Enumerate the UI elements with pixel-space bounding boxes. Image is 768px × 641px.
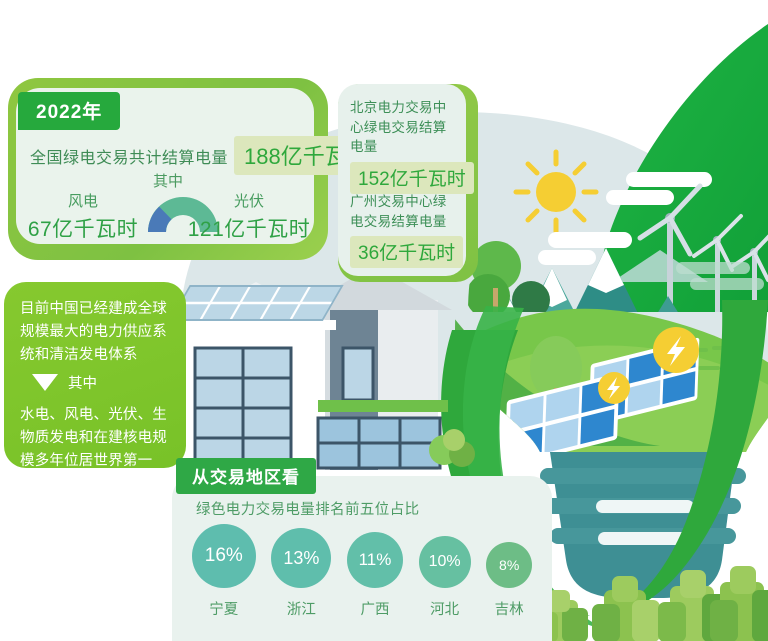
exchange-item-guangzhou: 广州交易中心绿电交易结算电量 36亿千瓦时	[350, 192, 460, 268]
exchange-value: 36亿千瓦时	[350, 236, 463, 268]
exchange-title: 北京电力交易中心绿电交易结算电量	[350, 98, 460, 157]
region-percent-bubble: 11%	[347, 532, 403, 588]
region-percent-bubble: 13%	[271, 528, 331, 588]
achievement-middle-label: 其中	[68, 372, 97, 393]
region-item: 10%河北	[419, 524, 471, 619]
card-national-achievement: 目前中国已经建成全球规模最大的电力供应系统和清洁发电体系 其中 水电、风电、光伏…	[4, 282, 186, 468]
wind-label: 风电	[24, 190, 142, 211]
wind-value: 67亿千瓦时	[24, 213, 142, 243]
exchange-value: 152亿千瓦时	[350, 162, 474, 194]
achievement-paragraph-2: 水电、风电、光伏、生物质发电和在建核电规模多年位居世界第一	[20, 404, 176, 473]
region-name: 河北	[430, 598, 459, 619]
exchange-item-beijing: 北京电力交易中心绿电交易结算电量 152亿千瓦时	[350, 98, 460, 194]
regions-badge: 从交易地区看	[176, 458, 316, 494]
solar-label: 光伏	[184, 190, 314, 211]
house-icon	[170, 266, 452, 470]
solar-value: 121亿千瓦时	[184, 213, 314, 243]
infographic-root: 2022年 全国绿电交易共计结算电量 188亿千瓦时 其中 风电 67亿千瓦时 …	[0, 0, 768, 641]
sun-icon	[516, 152, 596, 232]
region-name: 宁夏	[209, 598, 238, 619]
achievement-divider-row: 其中	[32, 372, 97, 393]
card-exchange-centers: 北京电力交易中心绿电交易结算电量 152亿千瓦时 广州交易中心绿电交易结算电量 …	[338, 84, 478, 282]
region-item: 11%广西	[347, 524, 403, 619]
achievement-paragraph-1: 目前中国已经建成全球规模最大的电力供应系统和清洁发电体系	[20, 298, 174, 367]
breakdown-label: 其中	[8, 170, 328, 191]
year-badge: 2022年	[18, 92, 120, 130]
region-percent-bubble: 16%	[192, 524, 256, 588]
region-name: 浙江	[287, 598, 316, 619]
region-percent-bubble: 10%	[419, 536, 471, 588]
exchange-title: 广州交易中心绿电交易结算电量	[350, 192, 460, 231]
card-regions: 绿色电力交易电量排名前五位占比 16%宁夏13%浙江11%广西10%河北8%吉林	[172, 476, 552, 641]
triangle-down-icon	[32, 374, 58, 391]
ground-shape	[0, 520, 186, 641]
region-name: 吉林	[495, 598, 524, 619]
region-name: 广西	[360, 598, 389, 619]
region-item: 8%吉林	[486, 524, 532, 619]
national-total-label: 全国绿电交易共计结算电量	[30, 144, 228, 168]
regions-title: 绿色电力交易电量排名前五位占比	[196, 498, 420, 519]
regions-bubble-list: 16%宁夏13%浙江11%广西10%河北8%吉林	[184, 524, 540, 619]
card-2022-summary: 2022年 全国绿电交易共计结算电量 188亿千瓦时 其中 风电 67亿千瓦时 …	[8, 78, 328, 260]
wind-stat: 风电 67亿千瓦时	[24, 190, 142, 243]
region-percent-bubble: 8%	[486, 542, 532, 588]
region-item: 13%浙江	[271, 524, 331, 619]
solar-stat: 光伏 121亿千瓦时	[184, 190, 314, 243]
region-item: 16%宁夏	[192, 524, 256, 619]
